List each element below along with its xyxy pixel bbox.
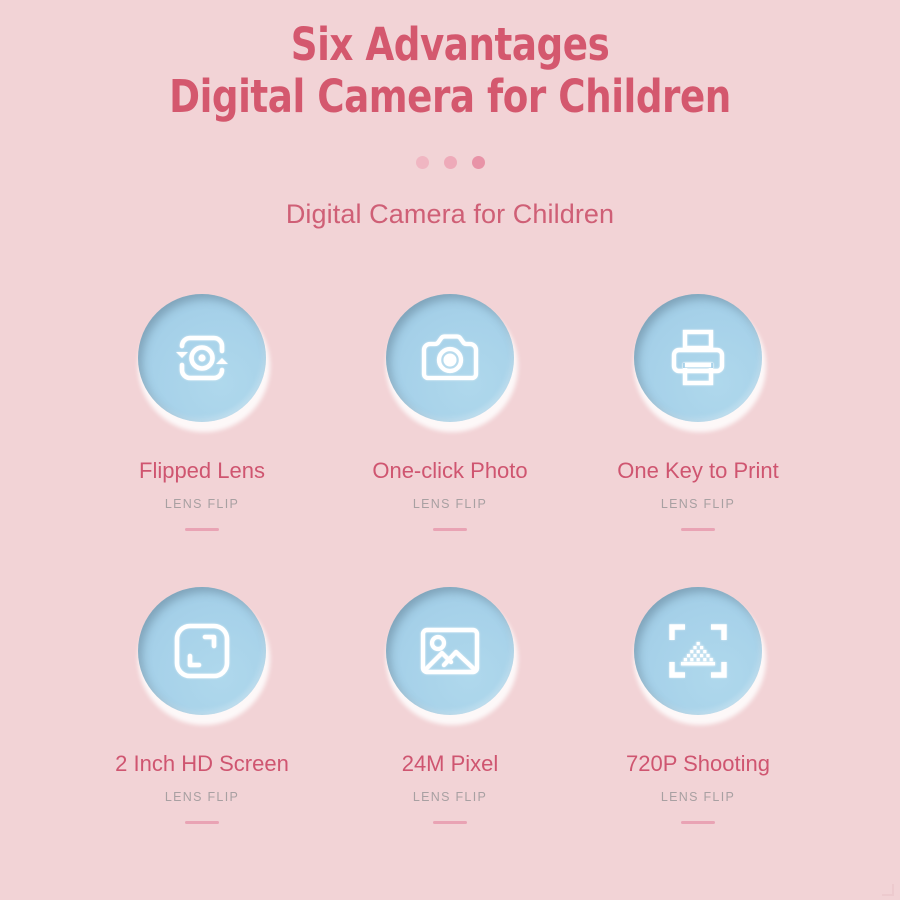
feature-label: Flipped Lens [139,458,265,484]
feature-divider [185,528,219,531]
feature-sublabel: LENS FLIP [413,497,487,511]
feature-sublabel: LENS FLIP [661,790,735,804]
feature-sublabel: LENS FLIP [165,497,239,511]
feature-label: 720P Shooting [626,751,770,777]
icon-circle [634,587,762,715]
feature-divider [681,821,715,824]
feature-item-24m-pixel[interactable]: 24M Pixel LENS FLIP [326,585,574,824]
feature-sublabel: LENS FLIP [413,790,487,804]
feature-item-flipped-lens[interactable]: Flipped Lens LENS FLIP [78,292,326,531]
printer-icon [667,327,729,389]
feature-item-one-click-photo[interactable]: One-click Photo LENS FLIP [326,292,574,531]
dot-3-icon [472,156,485,169]
icon-badge [136,292,268,424]
feature-item-2-inch-hd-screen[interactable]: 2 Inch HD Screen LENS FLIP [78,585,326,824]
feature-label: One Key to Print [617,458,778,484]
dot-2-icon [444,156,457,169]
feature-divider [433,821,467,824]
icon-badge [632,585,764,717]
corner-mark-icon [882,884,894,896]
icon-circle [138,294,266,422]
feature-item-one-key-to-print[interactable]: One Key to Print LENS FLIP [574,292,822,531]
feature-sublabel: LENS FLIP [661,497,735,511]
icon-badge [384,292,516,424]
icon-badge [136,585,268,717]
icon-circle [386,294,514,422]
flip-camera-icon [169,330,235,386]
screen-expand-icon [171,620,233,682]
feature-label: 24M Pixel [402,751,499,777]
feature-grid: Flipped Lens LENS FLIP One-click Photo [0,292,900,824]
feature-divider [681,528,715,531]
icon-circle [634,294,762,422]
page-title-line-2: Digital Camera for Children [36,74,864,120]
scan-frame-icon [667,622,729,680]
page-title-line-1: Six Advantages [36,22,864,68]
feature-divider [433,528,467,531]
decorative-dots [0,156,900,169]
feature-divider [185,821,219,824]
icon-circle [386,587,514,715]
page-subtitle: Digital Camera for Children [0,199,900,230]
feature-label: One-click Photo [372,458,527,484]
dot-1-icon [416,156,429,169]
promo-page: Six Advantages Digital Camera for Childr… [0,0,900,900]
icon-badge [384,585,516,717]
camera-icon [417,330,483,386]
feature-sublabel: LENS FLIP [165,790,239,804]
feature-item-720p-shooting[interactable]: 720P Shooting LENS FLIP [574,585,822,824]
photo-image-icon [418,624,482,678]
icon-badge [632,292,764,424]
page-header: Six Advantages Digital Camera for Childr… [0,0,900,230]
icon-circle [138,587,266,715]
feature-label: 2 Inch HD Screen [115,751,289,777]
